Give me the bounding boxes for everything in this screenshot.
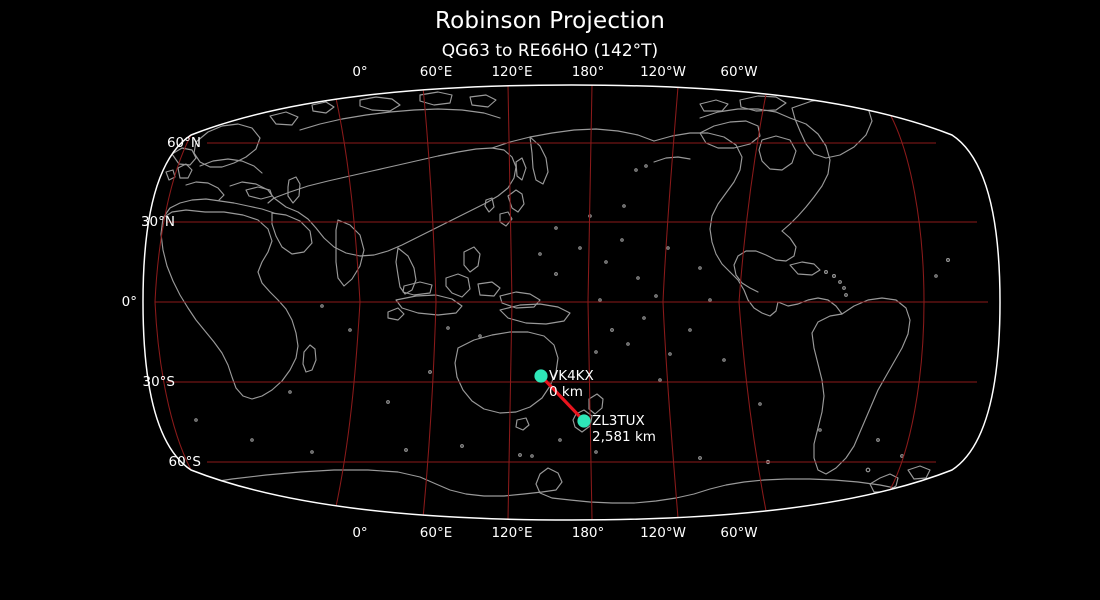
tick-bottom-3: 180° xyxy=(572,525,605,541)
marker-vk4kx xyxy=(534,369,547,382)
station-callsign-vk4kx: VK4KX xyxy=(549,369,594,385)
tick-top-4: 120°W xyxy=(640,64,686,80)
tick-top-0: 0° xyxy=(352,64,367,80)
tick-left-30S: 30°S xyxy=(143,374,176,390)
tick-bottom-5: 60°W xyxy=(720,525,757,541)
station-label-vk4kx: VK4KX 0 km xyxy=(549,369,594,400)
tick-bottom-1: 60°E xyxy=(420,525,452,541)
tick-top-5: 60°W xyxy=(720,64,757,80)
station-callsign-zl3tux: ZL3TUX xyxy=(592,414,656,430)
tick-left-0: 0° xyxy=(122,294,137,310)
station-distance-zl3tux: 2,581 km xyxy=(592,430,656,446)
marker-zl3tux xyxy=(577,414,590,427)
tick-bottom-2: 120°E xyxy=(491,525,532,541)
station-distance-vk4kx: 0 km xyxy=(549,385,594,401)
tick-left-30N: 30°N xyxy=(141,214,175,230)
tick-bottom-4: 120°W xyxy=(640,525,686,541)
tick-top-3: 180° xyxy=(572,64,605,80)
tick-bottom-0: 0° xyxy=(352,525,367,541)
map-figure: Robinson Projection QG63 to RE66HO (142°… xyxy=(0,0,1100,600)
tick-top-2: 120°E xyxy=(491,64,532,80)
tick-left-60S: 60°S xyxy=(169,454,202,470)
tick-left-60N: 60°N xyxy=(167,135,201,151)
map-canvas xyxy=(0,0,1100,600)
station-label-zl3tux: ZL3TUX 2,581 km xyxy=(592,414,656,445)
tick-top-1: 60°E xyxy=(420,64,452,80)
